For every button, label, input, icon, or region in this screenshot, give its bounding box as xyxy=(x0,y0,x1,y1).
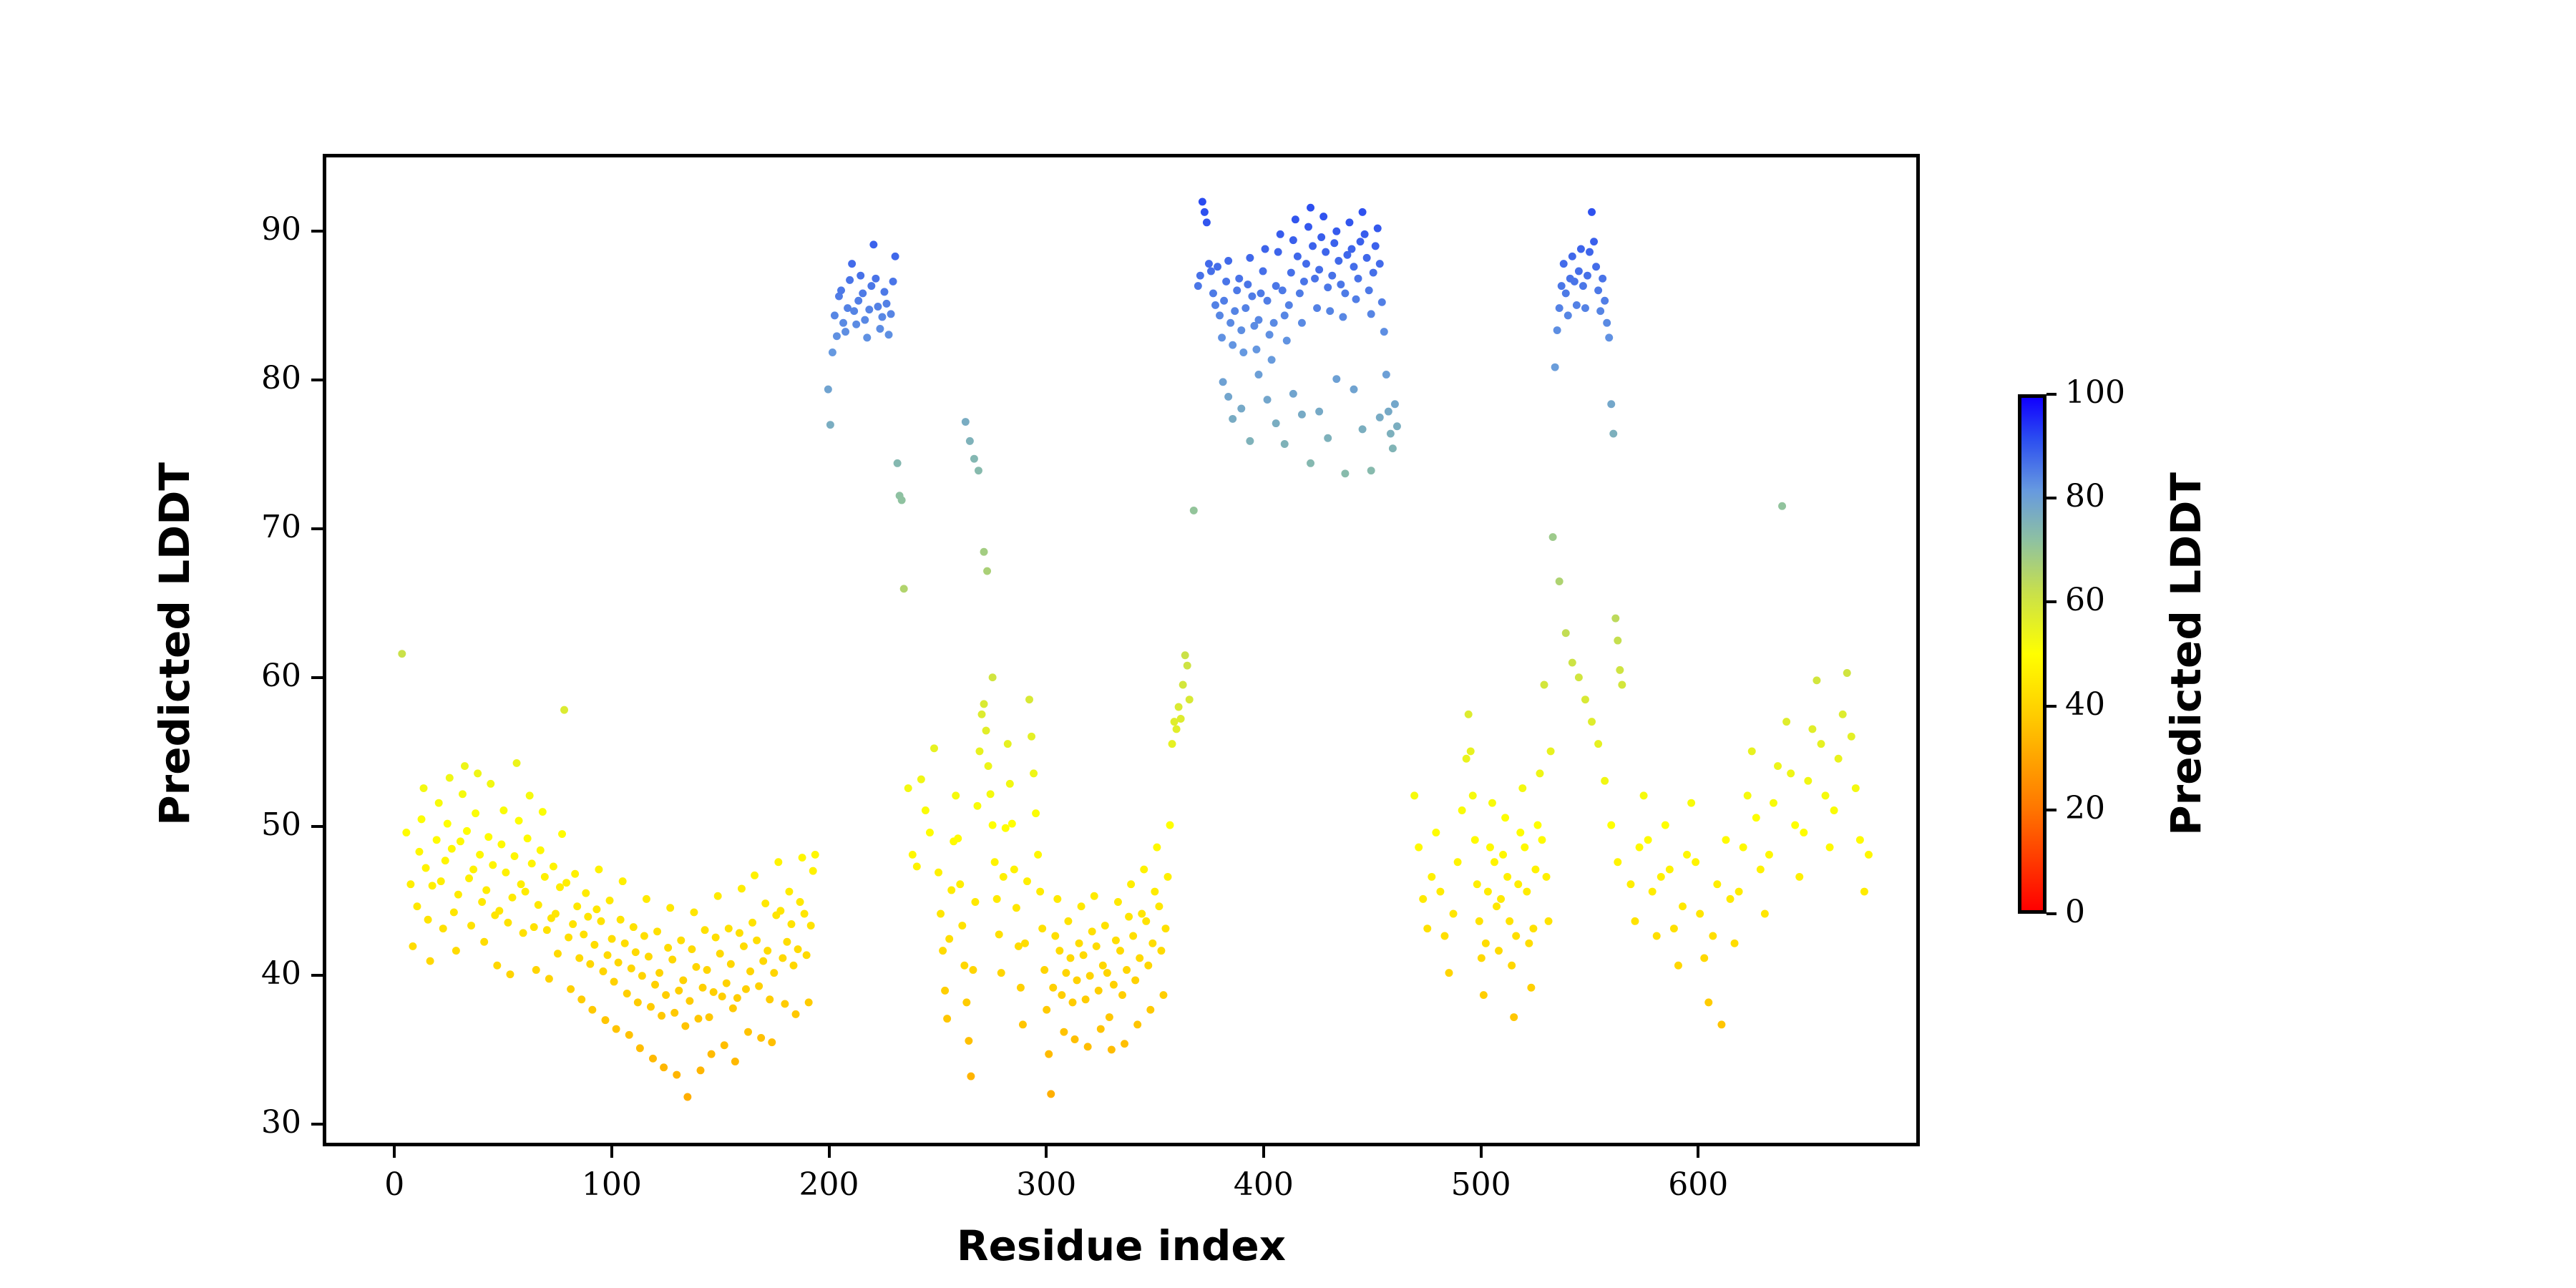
scatter-point xyxy=(1607,821,1615,829)
scatter-point xyxy=(1307,459,1314,467)
scatter-point xyxy=(1804,777,1812,785)
scatter-point xyxy=(731,1058,739,1065)
scatter-point xyxy=(975,467,982,474)
scatter-point xyxy=(1116,947,1124,955)
scatter-point xyxy=(1142,917,1150,925)
scatter-point xyxy=(1478,954,1485,962)
scatter-point xyxy=(1848,733,1855,741)
scatter-point xyxy=(1062,969,1070,977)
scatter-point xyxy=(1345,218,1353,226)
scatter-point xyxy=(1571,278,1579,286)
scatter-point xyxy=(651,981,659,989)
scatter-point xyxy=(586,960,594,968)
scatter-point xyxy=(926,829,934,836)
scatter-point xyxy=(1748,747,1756,755)
scatter-point xyxy=(1536,769,1544,777)
scatter-point xyxy=(1607,400,1615,408)
scatter-point xyxy=(803,951,811,959)
scatter-point xyxy=(985,762,992,770)
scatter-point xyxy=(1475,917,1483,925)
scatter-point xyxy=(1357,238,1365,245)
scatter-point xyxy=(1199,197,1206,205)
scatter-point xyxy=(876,325,884,333)
scatter-point xyxy=(1562,289,1570,297)
scatter-point xyxy=(1086,972,1094,980)
scatter-point xyxy=(450,908,458,916)
scatter-point xyxy=(539,808,547,816)
scatter-point xyxy=(1594,286,1602,294)
scatter-point xyxy=(1058,991,1065,999)
scatter-point xyxy=(1274,248,1282,256)
scatter-point xyxy=(1365,286,1373,294)
scatter-point xyxy=(1538,836,1546,844)
scatter-point xyxy=(1670,924,1678,932)
scatter-point xyxy=(781,1000,789,1008)
scatter-point xyxy=(1289,236,1297,244)
scatter-point xyxy=(662,991,670,999)
scatter-point xyxy=(472,809,479,817)
scatter-point xyxy=(807,922,815,930)
x-tick-mark xyxy=(1480,1146,1483,1158)
scatter-point xyxy=(1066,954,1074,962)
scatter-point xyxy=(613,1025,620,1033)
scatter-point xyxy=(969,966,977,974)
scatter-point xyxy=(1830,806,1838,814)
scatter-point xyxy=(1277,230,1284,238)
scatter-point xyxy=(513,759,521,767)
scatter-point xyxy=(1144,962,1152,970)
scatter-points-layer xyxy=(326,157,1916,1143)
scatter-point xyxy=(655,969,663,977)
scatter-point xyxy=(1246,254,1254,262)
scatter-point xyxy=(736,929,743,937)
scatter-point xyxy=(1497,895,1505,903)
y-tick-label: 50 xyxy=(180,809,301,841)
scatter-point xyxy=(524,834,532,842)
scatter-point xyxy=(582,889,590,897)
scatter-point xyxy=(909,851,917,859)
scatter-point xyxy=(1088,927,1096,935)
scatter-point xyxy=(1717,1020,1725,1028)
scatter-point xyxy=(1216,311,1224,319)
scatter-point xyxy=(859,289,867,297)
scatter-point xyxy=(937,910,945,918)
x-tick-label: 100 xyxy=(533,1169,691,1201)
scatter-point xyxy=(532,966,540,974)
scatter-point xyxy=(1614,637,1621,645)
scatter-point xyxy=(630,923,638,931)
scatter-point xyxy=(1101,922,1109,930)
scatter-point xyxy=(867,282,875,290)
scatter-point xyxy=(941,987,949,995)
scatter-point xyxy=(1095,987,1103,995)
scatter-point xyxy=(883,300,891,308)
scatter-point xyxy=(1533,821,1541,829)
y-tick-mark xyxy=(311,1123,323,1126)
scatter-point xyxy=(708,1050,716,1058)
scatter-point xyxy=(1501,814,1509,821)
scatter-point xyxy=(1415,844,1423,852)
scatter-point xyxy=(416,848,424,856)
scatter-point xyxy=(1666,866,1674,874)
scatter-point xyxy=(602,1016,610,1024)
x-tick-label: 400 xyxy=(1185,1169,1342,1201)
scatter-point xyxy=(1692,858,1699,866)
scatter-point xyxy=(1581,696,1589,703)
scatter-point xyxy=(729,1005,737,1013)
scatter-point xyxy=(535,901,542,909)
scatter-point xyxy=(1631,917,1639,925)
scatter-point xyxy=(1551,364,1559,371)
scatter-point xyxy=(1040,966,1048,974)
scatter-point xyxy=(695,1015,703,1023)
scatter-point xyxy=(846,276,854,284)
scatter-point xyxy=(487,780,494,788)
scatter-point xyxy=(978,711,986,718)
scatter-point xyxy=(1370,269,1377,277)
scatter-point xyxy=(1196,272,1204,280)
scatter-point xyxy=(1359,425,1367,433)
x-tick-label: 200 xyxy=(751,1169,908,1201)
scatter-point xyxy=(982,727,990,735)
scatter-point xyxy=(588,1006,596,1014)
scatter-point xyxy=(1214,263,1221,270)
scatter-point xyxy=(783,938,791,946)
scatter-point xyxy=(1376,414,1384,421)
scatter-point xyxy=(506,970,514,978)
scatter-point xyxy=(725,924,733,932)
scatter-point xyxy=(1159,991,1167,999)
scatter-point xyxy=(493,962,501,970)
scatter-point xyxy=(939,947,947,955)
scatter-point xyxy=(1127,880,1135,888)
scatter-point xyxy=(1556,577,1563,585)
scatter-point xyxy=(681,1022,689,1030)
colorbar-tick-label: 20 xyxy=(2065,793,2105,824)
scatter-point xyxy=(1761,910,1769,918)
scatter-point xyxy=(1053,895,1061,903)
scatter-point xyxy=(1558,282,1566,290)
y-tick-mark xyxy=(311,676,323,679)
scatter-point xyxy=(1735,888,1743,896)
scatter-point xyxy=(1091,892,1098,900)
scatter-point xyxy=(889,278,897,286)
scatter-point xyxy=(484,833,492,841)
scatter-point xyxy=(1389,444,1397,452)
scatter-point xyxy=(1514,880,1522,888)
scatter-point xyxy=(1644,836,1652,844)
scatter-point xyxy=(1190,507,1198,514)
scatter-point xyxy=(688,945,696,953)
scatter-point xyxy=(584,913,592,921)
scatter-point xyxy=(422,864,430,872)
scatter-point xyxy=(1317,233,1325,241)
scatter-point xyxy=(459,790,467,798)
scatter-point xyxy=(1241,304,1249,312)
scatter-point xyxy=(677,937,685,945)
scatter-point xyxy=(1618,681,1626,689)
scatter-point xyxy=(562,879,570,887)
scatter-point xyxy=(1328,272,1336,280)
scatter-point xyxy=(1553,326,1561,334)
scatter-point xyxy=(1484,888,1492,896)
scatter-point xyxy=(965,1037,972,1045)
scatter-point xyxy=(1350,386,1358,394)
colorbar-gradient xyxy=(2018,394,2046,914)
scatter-point xyxy=(987,790,995,798)
scatter-point xyxy=(1765,851,1773,859)
x-tick-mark xyxy=(1045,1146,1048,1158)
scatter-point xyxy=(1588,208,1596,216)
scatter-point xyxy=(623,990,631,997)
scatter-point xyxy=(1556,304,1563,312)
scatter-point xyxy=(1254,316,1262,324)
scatter-point xyxy=(1030,769,1038,777)
x-axis-label: Residue index xyxy=(957,1221,1286,1270)
scatter-point xyxy=(554,950,562,957)
scatter-point xyxy=(1239,348,1247,356)
scatter-point xyxy=(649,1055,657,1063)
scatter-point xyxy=(643,895,650,903)
scatter-point xyxy=(1352,296,1360,303)
scatter-point xyxy=(983,567,991,575)
scatter-point xyxy=(1808,725,1816,733)
scatter-point xyxy=(1023,877,1031,885)
scatter-point xyxy=(1222,278,1230,286)
scatter-point xyxy=(1237,326,1245,334)
scatter-point xyxy=(1324,283,1332,291)
scatter-point xyxy=(1860,888,1868,896)
scatter-point xyxy=(499,806,507,814)
scatter-point xyxy=(1220,297,1228,305)
scatter-point xyxy=(1577,245,1585,253)
scatter-point xyxy=(1581,304,1589,312)
scatter-point xyxy=(418,815,426,823)
scatter-point xyxy=(776,907,784,914)
scatter-point xyxy=(799,854,806,862)
scatter-point xyxy=(1486,844,1494,852)
scatter-point xyxy=(1021,940,1029,947)
scatter-point xyxy=(1201,208,1209,216)
scatter-point xyxy=(1740,844,1747,852)
scatter-point xyxy=(1512,932,1520,940)
scatter-point xyxy=(437,877,445,885)
scatter-point xyxy=(854,297,862,305)
scatter-point xyxy=(565,934,572,942)
scatter-point xyxy=(1839,711,1847,718)
scatter-point xyxy=(1543,873,1551,881)
scatter-point xyxy=(1531,866,1539,874)
scatter-point xyxy=(580,930,587,938)
scatter-point xyxy=(790,962,798,970)
scatter-point xyxy=(1363,254,1371,262)
scatter-point xyxy=(1391,400,1399,408)
scatter-point xyxy=(1482,940,1490,947)
scatter-point xyxy=(476,851,484,859)
scatter-point xyxy=(1177,715,1185,723)
scatter-point xyxy=(1060,1028,1068,1036)
scatter-point xyxy=(1649,888,1657,896)
scatter-point xyxy=(1231,307,1239,315)
scatter-point xyxy=(1564,311,1572,319)
y-tick-mark xyxy=(311,379,323,381)
scatter-point xyxy=(1080,951,1088,959)
scatter-point xyxy=(1469,791,1477,799)
scatter-point xyxy=(444,820,452,828)
scatter-point xyxy=(885,331,893,338)
scatter-point xyxy=(550,862,557,870)
scatter-point xyxy=(541,873,549,881)
scatter-point xyxy=(420,784,428,792)
scatter-point xyxy=(426,957,434,965)
scatter-point xyxy=(571,870,579,878)
scatter-point xyxy=(943,1015,951,1023)
scatter-point xyxy=(530,923,538,931)
scatter-point xyxy=(1588,718,1596,726)
scatter-point xyxy=(1114,898,1122,906)
scatter-point xyxy=(1852,784,1860,792)
scatter-point xyxy=(1032,809,1040,817)
scatter-point xyxy=(1744,791,1752,799)
scatter-point xyxy=(1488,799,1496,807)
scatter-point xyxy=(1367,467,1375,474)
scatter-point xyxy=(962,998,970,1006)
scatter-point xyxy=(478,898,486,906)
scatter-point xyxy=(768,1038,776,1046)
scatter-point xyxy=(1292,215,1299,223)
scatter-point xyxy=(1307,204,1314,212)
scatter-point xyxy=(1138,910,1146,918)
colorbar-label: Predicted LDDT xyxy=(2162,472,2210,836)
scatter-point xyxy=(1315,408,1323,416)
scatter-point xyxy=(1355,275,1362,283)
scatter-point xyxy=(1687,799,1695,807)
scatter-point xyxy=(1161,924,1169,932)
scatter-point xyxy=(1166,821,1174,829)
y-tick-label: 80 xyxy=(180,363,301,394)
scatter-point xyxy=(872,275,879,283)
scatter-point xyxy=(647,1003,655,1011)
scatter-point xyxy=(759,957,767,965)
scatter-point xyxy=(1523,888,1531,896)
scatter-point xyxy=(1099,962,1107,970)
scatter-point xyxy=(1491,858,1498,866)
scatter-point xyxy=(402,829,410,836)
plot-area xyxy=(323,154,1920,1146)
scatter-point xyxy=(1155,902,1163,910)
scatter-point xyxy=(1603,319,1611,327)
scatter-point xyxy=(1289,390,1297,398)
scatter-point xyxy=(670,1009,678,1017)
figure-canvas: Predicted LDDT 30405060708090 0100200300… xyxy=(0,0,2576,1288)
scatter-point xyxy=(962,418,970,426)
scatter-point xyxy=(528,859,536,867)
scatter-point xyxy=(1508,962,1516,970)
scatter-point xyxy=(1181,651,1189,659)
scatter-point xyxy=(839,319,847,327)
scatter-point xyxy=(831,311,839,319)
scatter-point xyxy=(1262,245,1269,253)
scatter-point xyxy=(441,857,449,864)
scatter-point xyxy=(597,917,605,925)
scatter-point xyxy=(1367,310,1375,318)
scatter-point xyxy=(645,952,653,960)
scatter-point xyxy=(567,985,575,993)
scatter-point xyxy=(634,998,642,1006)
scatter-point xyxy=(1283,337,1291,345)
scatter-point xyxy=(1302,260,1310,268)
scatter-point xyxy=(980,700,988,708)
scatter-point xyxy=(766,995,774,1003)
scatter-point xyxy=(1264,396,1272,404)
scatter-point xyxy=(666,904,674,912)
scatter-point xyxy=(683,1093,691,1101)
scatter-point xyxy=(1770,799,1777,807)
scatter-point xyxy=(811,851,819,859)
scatter-point xyxy=(1704,998,1712,1006)
scatter-point xyxy=(1380,328,1388,336)
scatter-point xyxy=(1428,873,1435,881)
scatter-point xyxy=(1679,902,1687,910)
scatter-point xyxy=(703,966,711,974)
scatter-point xyxy=(1547,747,1555,755)
scatter-point xyxy=(1324,434,1332,442)
scatter-point xyxy=(792,1010,800,1018)
scatter-point xyxy=(1281,311,1289,319)
scatter-point xyxy=(1224,257,1232,265)
colorbar-tick-label: 0 xyxy=(2065,897,2085,928)
scatter-point xyxy=(1605,333,1613,341)
scatter-point xyxy=(1575,268,1583,275)
scatter-point xyxy=(1279,286,1287,294)
scatter-point xyxy=(1700,954,1708,962)
scatter-point xyxy=(1640,791,1648,799)
scatter-point xyxy=(697,1066,705,1074)
scatter-point xyxy=(935,869,942,877)
scatter-point xyxy=(675,987,683,995)
scatter-point xyxy=(1296,289,1304,297)
scatter-point xyxy=(1266,331,1274,338)
colorbar-tick-mark xyxy=(2046,497,2057,499)
colorbar-tick-mark xyxy=(2046,809,2057,811)
y-tick-mark xyxy=(311,527,323,530)
scatter-point xyxy=(1226,319,1234,327)
scatter-point xyxy=(1525,940,1533,947)
scatter-point xyxy=(848,260,856,268)
scatter-point xyxy=(1376,260,1384,268)
scatter-point xyxy=(1599,275,1606,283)
scatter-point xyxy=(1683,851,1691,859)
scatter-point xyxy=(604,951,612,959)
scatter-point xyxy=(1521,844,1528,852)
scatter-point xyxy=(692,963,700,971)
y-tick-label: 70 xyxy=(180,512,301,543)
scatter-point xyxy=(880,288,888,296)
scatter-point xyxy=(718,992,726,1000)
scatter-point xyxy=(480,938,488,946)
scatter-point xyxy=(1229,341,1236,349)
scatter-point xyxy=(515,816,523,824)
scatter-point xyxy=(960,962,968,970)
y-tick-label: 60 xyxy=(180,660,301,692)
scatter-point xyxy=(1049,984,1057,992)
scatter-point xyxy=(1218,333,1226,341)
y-tick-label: 90 xyxy=(180,214,301,245)
scatter-point xyxy=(463,827,471,835)
x-tick-mark xyxy=(1697,1146,1699,1158)
scatter-point xyxy=(714,892,722,900)
scatter-point xyxy=(1787,769,1795,777)
